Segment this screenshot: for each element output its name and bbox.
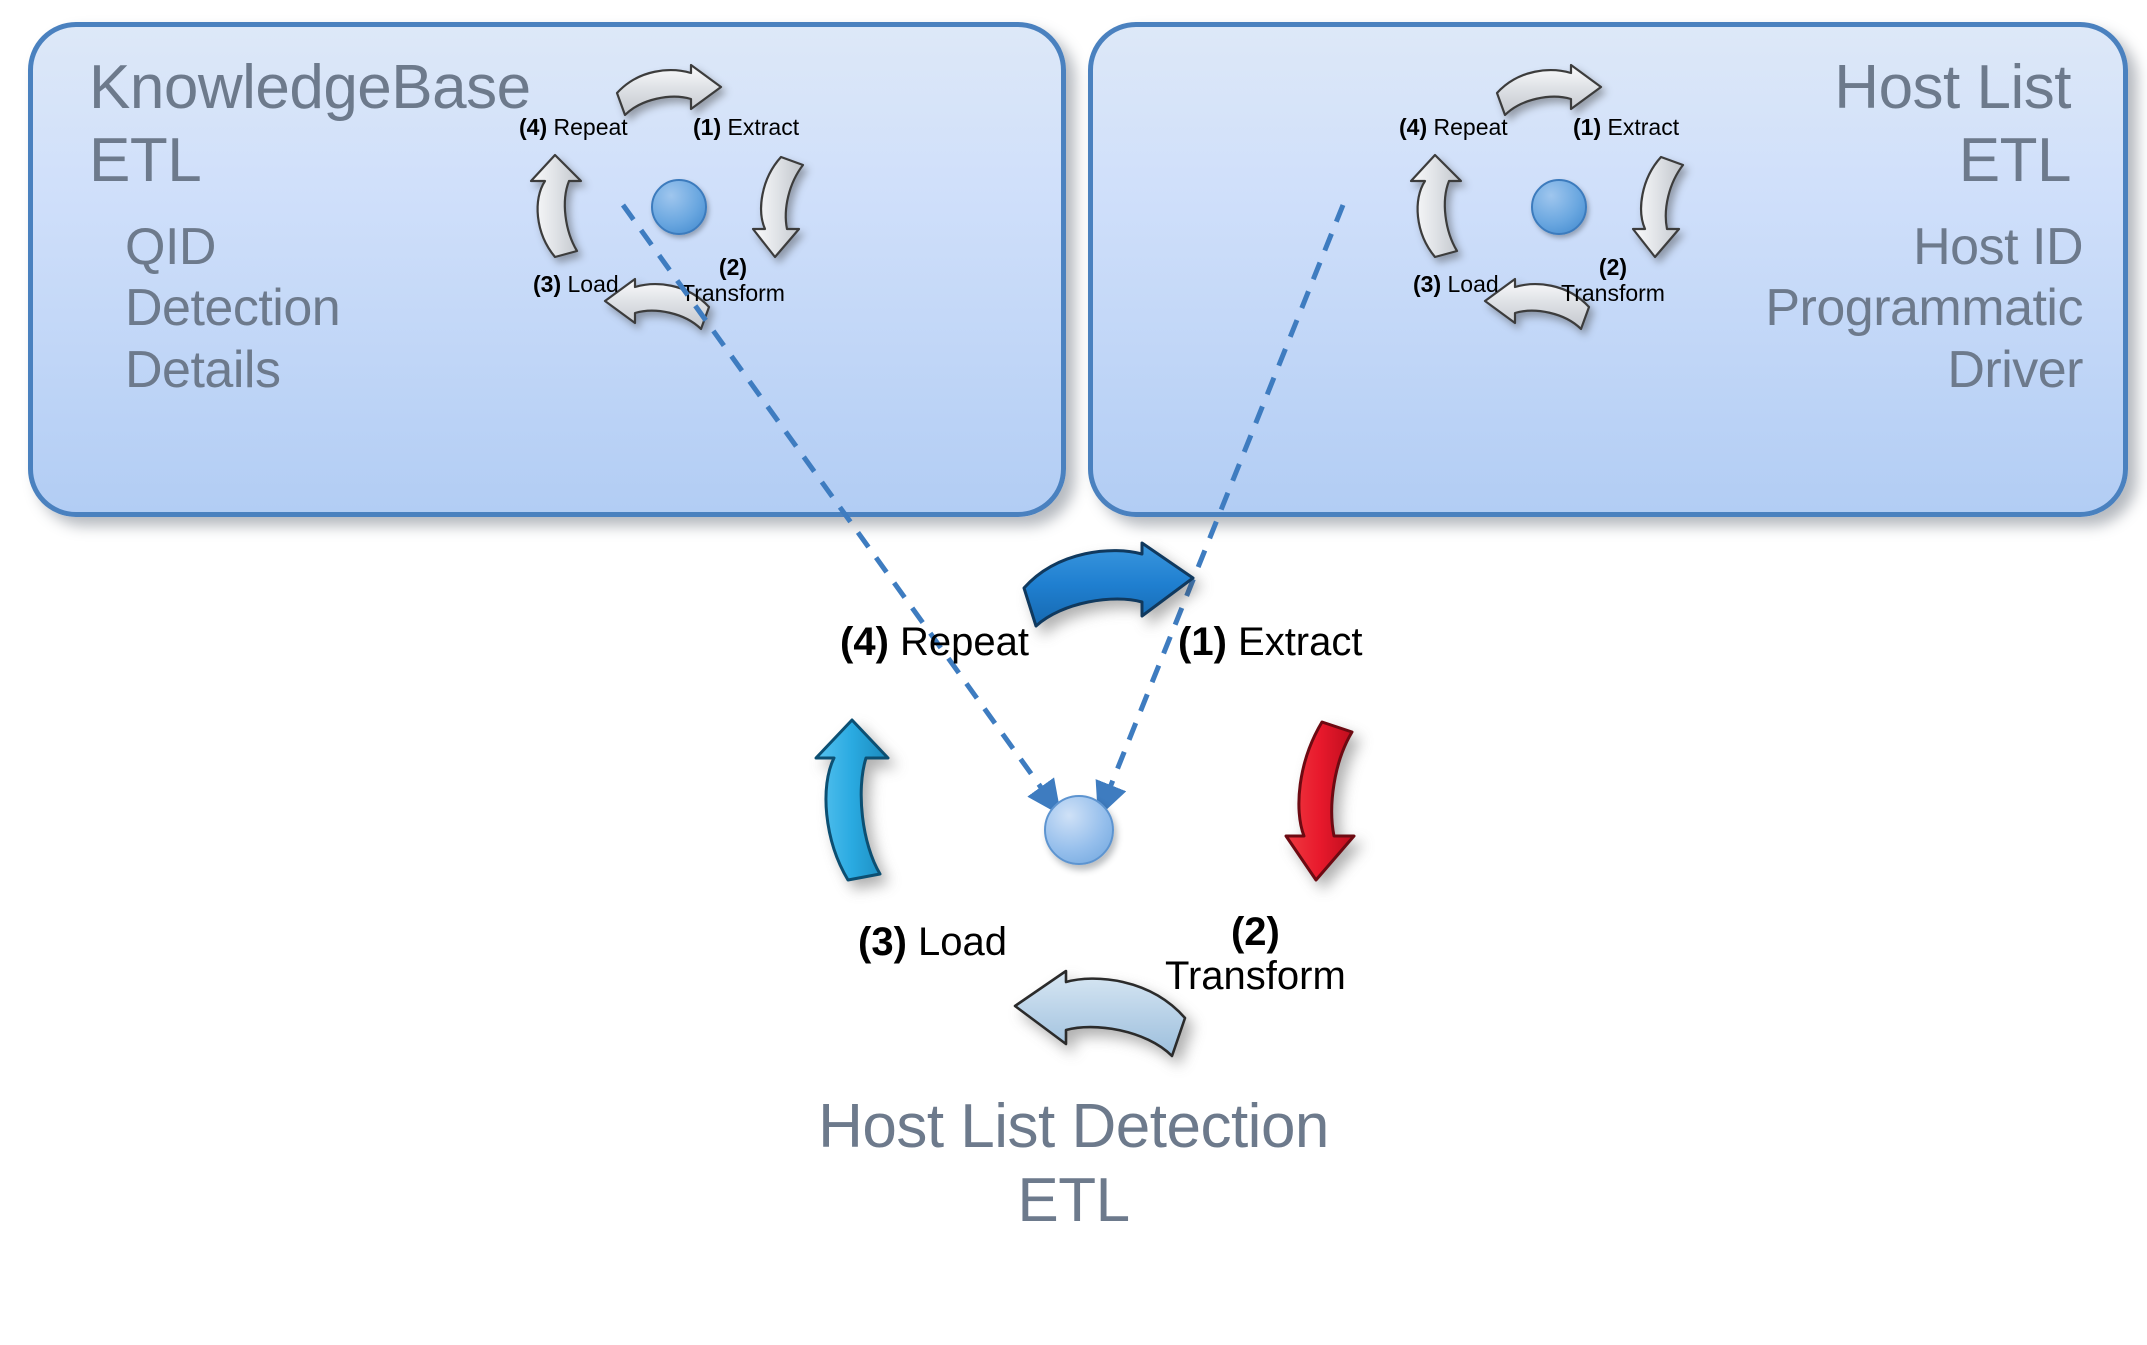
arrow-down-curved-icon	[1621, 153, 1691, 261]
arrow-left-curved-icon	[1010, 968, 1190, 1068]
step-number: (3)	[533, 271, 561, 297]
step-text: Extract	[728, 114, 800, 140]
step-number: (1)	[693, 114, 721, 140]
arrow-right-curved-icon	[1018, 540, 1198, 640]
step-number: (1)	[1178, 620, 1227, 664]
panel-knowledgebase-title: KnowledgeBase ETL	[89, 51, 531, 197]
step-label-repeat: (4) Repeat	[519, 115, 628, 141]
diagram-canvas: KnowledgeBase ETL QID Detection Details	[0, 0, 2147, 1345]
step-text: Load	[918, 920, 1007, 964]
step-text: Repeat	[900, 620, 1029, 664]
step-label-transform: (2) Transform	[1561, 255, 1665, 307]
etl-node	[651, 179, 707, 235]
step-number: (4)	[840, 620, 889, 664]
step-number: (4)	[519, 114, 547, 140]
step-label-transform: (2) Transform	[681, 255, 785, 307]
arrow-down-curved-icon	[1272, 718, 1364, 884]
step-number: (2)	[1599, 254, 1627, 280]
main-cycle-caption: Host List Detection ETL	[0, 1090, 2147, 1239]
step-label-load: (3) Load	[858, 920, 1007, 964]
panel-hostlist-etl[interactable]: Host List ETL Host ID Programmatic Drive…	[1088, 22, 2128, 517]
knowledgebase-mini-etl-cycle: (4) Repeat (1) Extract (3) Load (2) Tran…	[503, 57, 843, 347]
panel-knowledgebase-etl[interactable]: KnowledgeBase ETL QID Detection Details	[28, 22, 1066, 517]
step-text: Transform	[1561, 280, 1665, 306]
step-label-repeat: (4) Repeat	[1399, 115, 1508, 141]
arrow-down-curved-icon	[741, 153, 811, 261]
panel-knowledgebase-subtitle: QID Detection Details	[125, 217, 340, 401]
step-number: (3)	[1413, 271, 1441, 297]
arrow-up-curved-icon	[808, 718, 900, 884]
step-text: Repeat	[554, 114, 628, 140]
step-label-transform: (2) Transform	[1165, 910, 1346, 998]
step-number: (4)	[1399, 114, 1427, 140]
step-label-extract: (1) Extract	[693, 115, 799, 141]
arrow-up-curved-icon	[1405, 153, 1475, 261]
step-label-extract: (1) Extract	[1178, 620, 1363, 664]
step-label-repeat: (4) Repeat	[840, 620, 1029, 664]
etl-node	[1044, 795, 1114, 865]
step-label-load: (3) Load	[1413, 272, 1499, 298]
arrow-up-curved-icon	[525, 153, 595, 261]
step-label-load: (3) Load	[533, 272, 619, 298]
hostlist-mini-etl-cycle: (4) Repeat (1) Extract (3) Load (2) Tran…	[1383, 57, 1723, 347]
etl-node	[1531, 179, 1587, 235]
step-number: (2)	[719, 254, 747, 280]
step-label-extract: (1) Extract	[1573, 115, 1679, 141]
step-number: (3)	[858, 920, 907, 964]
panel-hostlist-subtitle: Host ID Programmatic Driver	[1765, 217, 2083, 401]
step-text: Load	[1448, 271, 1499, 297]
step-text: Transform	[1165, 954, 1346, 998]
panel-hostlist-title: Host List ETL	[1834, 51, 2071, 197]
step-number: (2)	[1231, 910, 1280, 954]
step-text: Load	[568, 271, 619, 297]
step-text: Extract	[1238, 620, 1362, 664]
step-text: Transform	[681, 280, 785, 306]
step-number: (1)	[1573, 114, 1601, 140]
step-text: Repeat	[1434, 114, 1508, 140]
step-text: Extract	[1608, 114, 1680, 140]
